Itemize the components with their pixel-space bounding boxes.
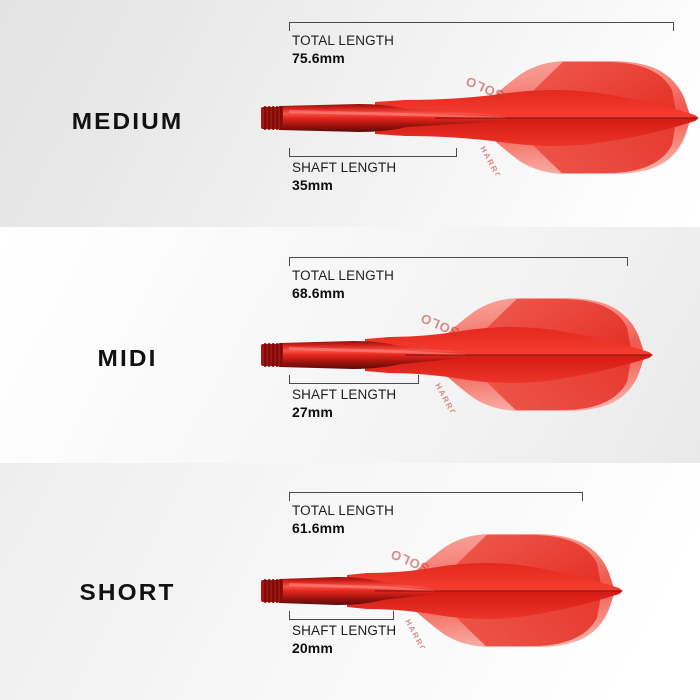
dimension-rule (289, 257, 628, 258)
dart-illustration-medium: SOLO HARROWS (255, 60, 700, 175)
total-length-title: TOTAL LENGTH (292, 267, 394, 284)
size-panel-short: SHORT TOTAL LENGTH 61.6mm SHAFT LENGTH 2… (0, 463, 700, 700)
size-label-short: SHORT (0, 579, 263, 606)
total-length-dimension-short (289, 492, 583, 501)
size-label-midi: MIDI (0, 345, 263, 372)
dimension-tick-right (627, 257, 628, 266)
total-length-title: TOTAL LENGTH (292, 502, 394, 519)
shaft-thread (261, 106, 283, 130)
shaft-length-value: 35mm (292, 176, 396, 194)
dart-illustration-midi: SOLO HARROWS (255, 297, 655, 412)
dart-svg: SOLO HARROWS (255, 533, 625, 648)
dimension-rule (289, 492, 583, 493)
dimension-tick-left (289, 22, 290, 31)
dimension-tick-left (289, 257, 290, 266)
dart-illustration-short: SOLO HARROWS (255, 533, 625, 648)
shaft-thread (261, 343, 283, 367)
total-length-dimension-medium (289, 22, 674, 31)
total-length-dimension-midi (289, 257, 628, 266)
dimension-tick-right (582, 492, 583, 501)
dart-svg: SOLO HARROWS (255, 297, 655, 412)
size-label-medium: MEDIUM (0, 108, 263, 135)
dart-size-chart: MEDIUM TOTAL LENGTH 75.6mm SHAFT LENGTH … (0, 0, 700, 700)
total-length-title: TOTAL LENGTH (292, 32, 394, 49)
dimension-tick-left (289, 492, 290, 501)
total-length-caption-short: TOTAL LENGTH 61.6mm (292, 502, 394, 537)
size-panel-midi: MIDI TOTAL LENGTH 68.6mm SHAFT LENGTH 27… (0, 227, 700, 463)
shaft-thread (261, 579, 283, 603)
size-panel-medium: MEDIUM TOTAL LENGTH 75.6mm SHAFT LENGTH … (0, 0, 700, 227)
dimension-rule (289, 22, 674, 23)
dart-svg: SOLO HARROWS (255, 60, 700, 175)
dimension-tick-right (673, 22, 674, 31)
